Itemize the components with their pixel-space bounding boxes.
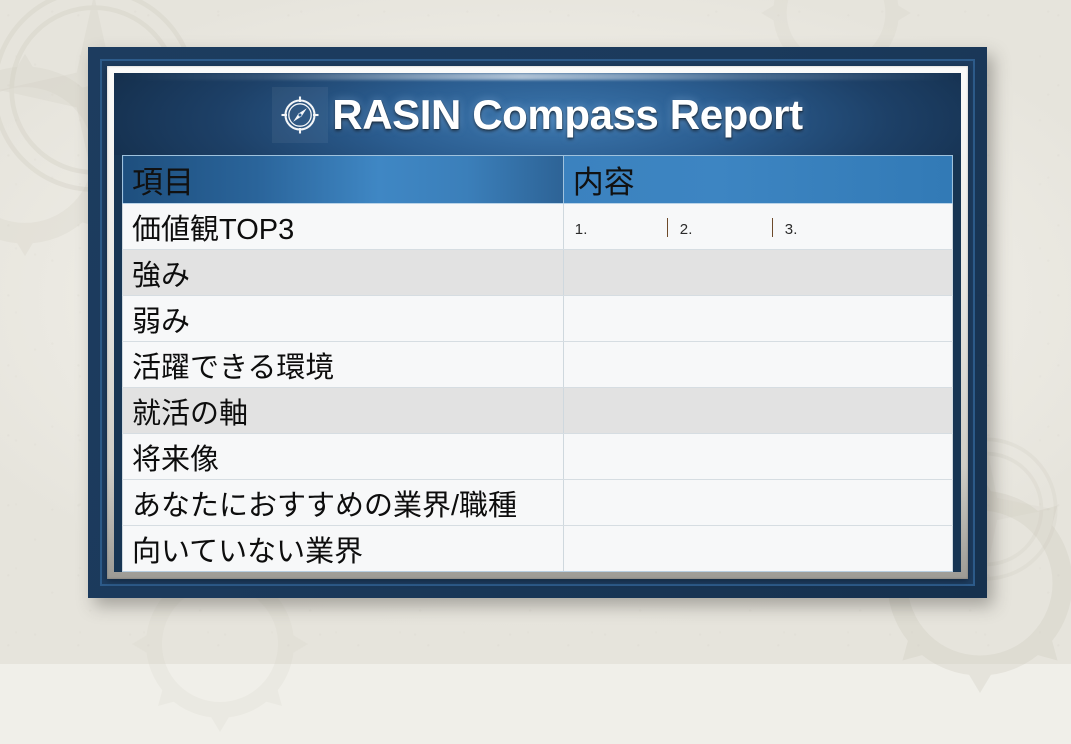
report-table-container: 項目 内容 価値観TOP3 1. 2. <box>114 155 961 572</box>
divider <box>772 218 773 237</box>
report-panel: RASIN Compass Report 項目 内容 <box>114 73 961 572</box>
table-body: 価値観TOP3 1. 2. 3. <box>123 204 953 572</box>
row-content-weaknesses[interactable] <box>563 296 952 342</box>
table-row: 向いていない業界 <box>123 526 953 572</box>
row-content-recommended-industries[interactable] <box>563 480 952 526</box>
row-content-unsuitable-industries[interactable] <box>563 526 952 572</box>
row-label-thriving-environment: 活躍できる環境 <box>123 342 564 388</box>
column-header-content: 内容 <box>563 156 952 204</box>
table-row: 活躍できる環境 <box>123 342 953 388</box>
row-content-future-vision[interactable] <box>563 434 952 480</box>
row-content-strengths[interactable] <box>563 250 952 296</box>
report-table: 項目 内容 価値観TOP3 1. 2. <box>122 155 953 572</box>
table-row: 将来像 <box>123 434 953 480</box>
table-row: あなたにおすすめの業界/職種 <box>123 480 953 526</box>
report-frame: RASIN Compass Report 項目 内容 <box>88 47 987 598</box>
divider <box>667 218 668 237</box>
table-row: 価値観TOP3 1. 2. 3. <box>123 204 953 250</box>
row-content-thriving-environment[interactable] <box>563 342 952 388</box>
row-label-unsuitable-industries: 向いていない業界 <box>123 526 564 572</box>
compass-icon <box>272 87 328 143</box>
placeholder-number-1: 1. <box>575 221 667 238</box>
table-header-row: 項目 内容 <box>123 156 953 204</box>
column-header-item: 項目 <box>123 156 564 204</box>
report-header: RASIN Compass Report <box>114 73 961 155</box>
placeholder-number-2: 2. <box>680 221 772 238</box>
numbered-placeholder-list: 1. 2. 3. <box>575 215 952 238</box>
row-content-values-top3[interactable]: 1. 2. 3. <box>563 204 952 250</box>
table-row: 弱み <box>123 296 953 342</box>
row-content-job-hunting-axis[interactable] <box>563 388 952 434</box>
frame-silver-band: RASIN Compass Report 項目 内容 <box>107 66 968 579</box>
table-row: 強み <box>123 250 953 296</box>
page-title: RASIN Compass Report <box>332 94 802 136</box>
table-row: 就活の軸 <box>123 388 953 434</box>
row-label-job-hunting-axis: 就活の軸 <box>123 388 564 434</box>
frame-accent-border: RASIN Compass Report 項目 内容 <box>100 59 975 586</box>
placeholder-number-3: 3. <box>785 221 877 238</box>
row-label-recommended-industries: あなたにおすすめの業界/職種 <box>123 480 564 526</box>
row-label-values-top3: 価値観TOP3 <box>123 204 564 250</box>
row-label-future-vision: 将来像 <box>123 434 564 480</box>
table-header: 項目 内容 <box>123 156 953 204</box>
row-label-strengths: 強み <box>123 250 564 296</box>
row-label-weaknesses: 弱み <box>123 296 564 342</box>
